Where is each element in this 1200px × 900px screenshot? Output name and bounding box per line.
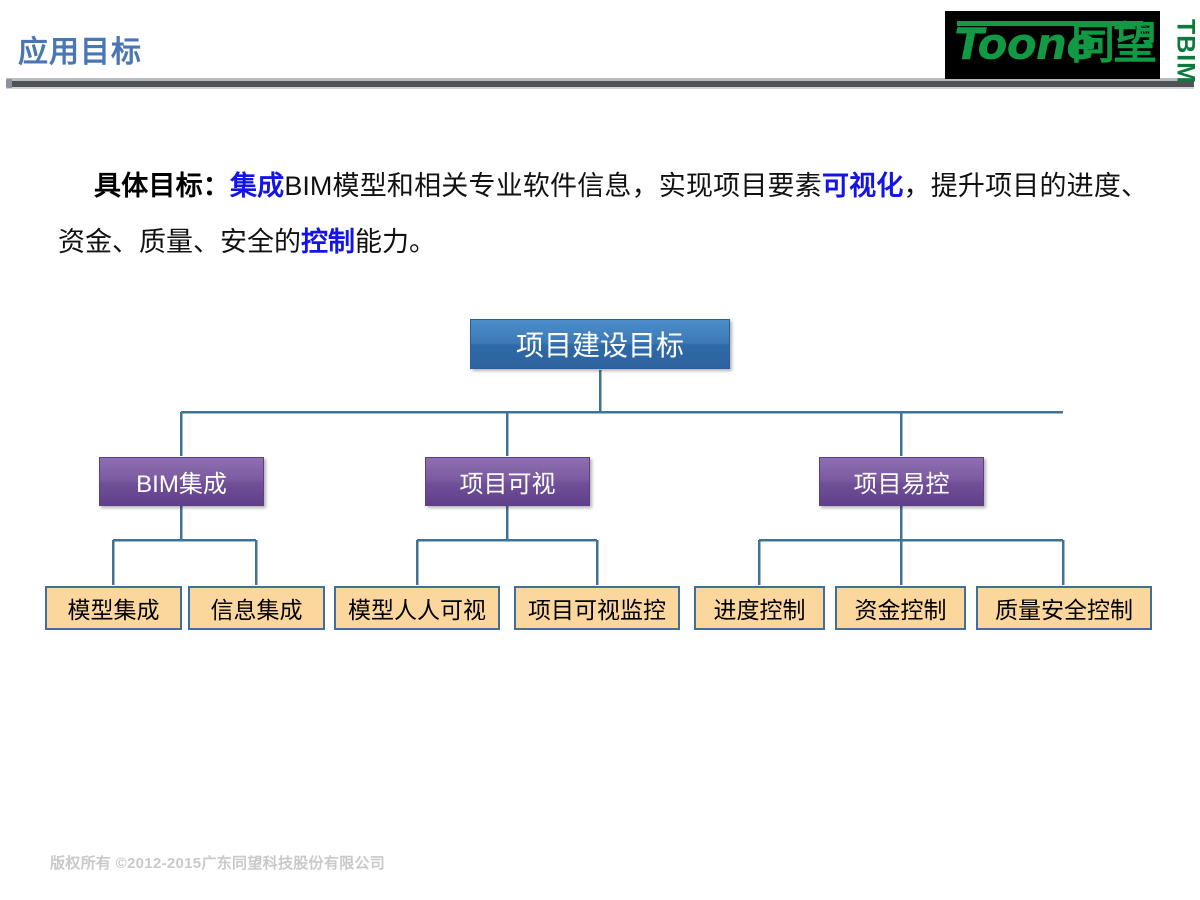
node-leaf-label: 模型集成 [68,591,160,625]
node-leaf-model-integration[interactable]: 模型集成 [45,586,182,630]
node-leaf-info-integration[interactable]: 信息集成 [188,586,325,630]
tbim-text: TBIM [1171,10,1200,94]
node-leaf-label: 模型人人可视 [348,591,486,625]
node-branch-label: BIM集成 [136,464,227,499]
lead-segment-4: 能力。 [355,227,436,257]
lead-segment-2: BIM模型和相关专业软件信息，实现项目要素 [284,171,822,201]
node-leaf-model-visible-to-all[interactable]: 模型人人可视 [334,586,500,630]
node-leaf-label: 进度控制 [714,591,806,625]
node-branch-project-control[interactable]: 项目易控 [819,457,984,506]
node-leaf-label: 项目可视监控 [528,591,666,625]
company-logo: Toone 同望 ® [945,11,1160,79]
node-leaf-funds-control[interactable]: 资金控制 [835,586,966,630]
divider-left-cap [6,79,12,88]
node-leaf-schedule-control[interactable]: 进度控制 [694,586,825,630]
node-branch-label: 项目易控 [854,464,950,499]
lead-label: 具体目标： [94,171,230,201]
node-leaf-label: 信息集成 [211,591,303,625]
node-leaf-project-visual-monitoring[interactable]: 项目可视监控 [514,586,680,630]
lead-highlight-1: 集成 [230,171,284,201]
node-branch-project-visual[interactable]: 项目可视 [425,457,590,506]
node-leaf-label: 质量安全控制 [995,591,1133,625]
page-title: 应用目标 [18,36,142,70]
org-chart-diagram: 项目建设目标 BIM集成 项目可视 项目易控 模型集成 信息集成 模型人人可视 … [0,300,1200,660]
tbim-vertical-label: TBIM [1157,3,1197,85]
lead-highlight-3: 控制 [301,227,355,257]
slide-header: 应用目标 Toone 同望 ® TBIM [0,0,1200,100]
header-divider [6,78,1194,89]
lead-paragraph: 具体目标：集成BIM模型和相关专业软件信息，实现项目要素可视化，提升项目的进度、… [58,158,1148,270]
node-leaf-quality-safety-control[interactable]: 质量安全控制 [976,586,1152,630]
lead-highlight-2: 可视化 [822,171,904,201]
node-leaf-label: 资金控制 [855,591,947,625]
footer-copyright: 版权所有 ©2012-2015广东同望科技股份有限公司 [50,852,385,873]
node-root[interactable]: 项目建设目标 [470,319,730,369]
divider-bottom-line [6,87,1194,89]
node-branch-label: 项目可视 [460,464,556,499]
registered-trademark-icon: ® [1139,23,1149,38]
node-root-label: 项目建设目标 [516,324,684,364]
node-branch-bim-integration[interactable]: BIM集成 [99,457,264,506]
